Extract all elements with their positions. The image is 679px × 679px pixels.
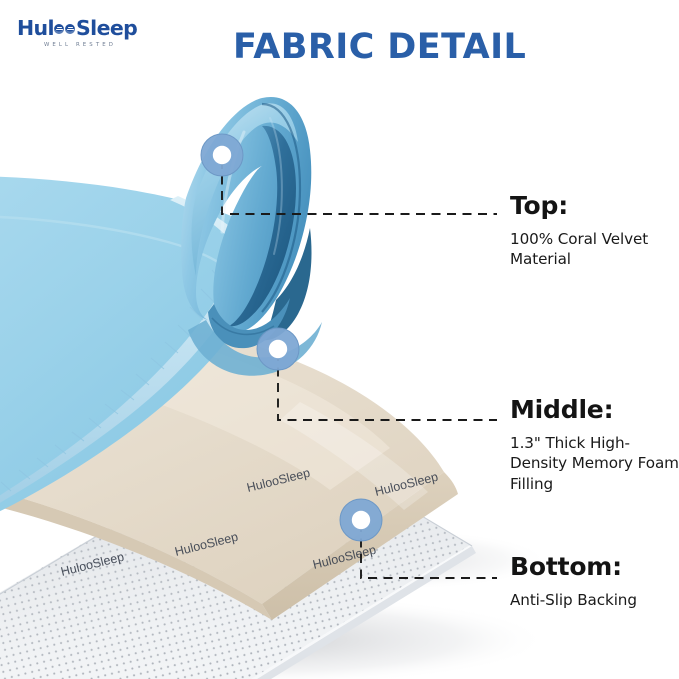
leader-line-top: [222, 160, 497, 214]
callout-markers: [201, 134, 382, 541]
marker-bottom[interactable]: [340, 499, 382, 541]
callout-bottom-body: Anti-Slip Backing: [510, 590, 679, 611]
marker-middle[interactable]: [257, 328, 299, 370]
page-title: FABRIC DETAIL: [233, 27, 526, 67]
logo-wordmark: Hul Sleep: [17, 18, 147, 39]
marker-top[interactable]: [201, 134, 243, 176]
callout-middle: Middle: 1.3" Thick High-Density Memory F…: [510, 396, 679, 495]
coral-velvet-blue-cover: [0, 97, 322, 530]
callout-top: Top: 100% Coral Velvet Material: [510, 192, 679, 270]
logo-text-after: Sleep: [76, 18, 137, 39]
leader-line-middle: [278, 352, 497, 420]
callout-middle-heading: Middle:: [510, 396, 679, 424]
logo-text-before: Hul: [17, 18, 54, 39]
callout-top-heading: Top:: [510, 192, 679, 220]
watermark-label: HulooSleep: [245, 466, 311, 495]
watermark-label: HulooSleep: [311, 543, 377, 572]
memory-foam-cream-core: [0, 286, 458, 620]
callout-bottom: Bottom: Anti-Slip Backing: [510, 553, 679, 610]
logo-tagline: WELL RESTED: [17, 42, 147, 48]
backing-watermarks: HulooSleep HulooSleep HulooSleep HulooSl…: [59, 466, 439, 579]
watermark-label: HulooSleep: [173, 530, 239, 559]
callout-top-body: 100% Coral Velvet Material: [510, 229, 679, 271]
anti-slip-dotted-backing: [0, 400, 540, 679]
sleepy-eyes-icon: [54, 24, 75, 34]
leader-lines: [222, 160, 497, 578]
callout-middle-body: 1.3" Thick High-Density Memory Foam Fill…: [510, 433, 679, 496]
watermark-label: HulooSleep: [373, 470, 439, 499]
leader-line-bottom: [361, 523, 497, 578]
callout-bottom-heading: Bottom:: [510, 553, 679, 581]
fabric-detail-infographic: Hul Sleep WELL RESTED FABRIC DETAIL: [0, 0, 679, 679]
brand-logo: Hul Sleep WELL RESTED: [17, 18, 147, 48]
watermark-label: HulooSleep: [59, 550, 125, 579]
